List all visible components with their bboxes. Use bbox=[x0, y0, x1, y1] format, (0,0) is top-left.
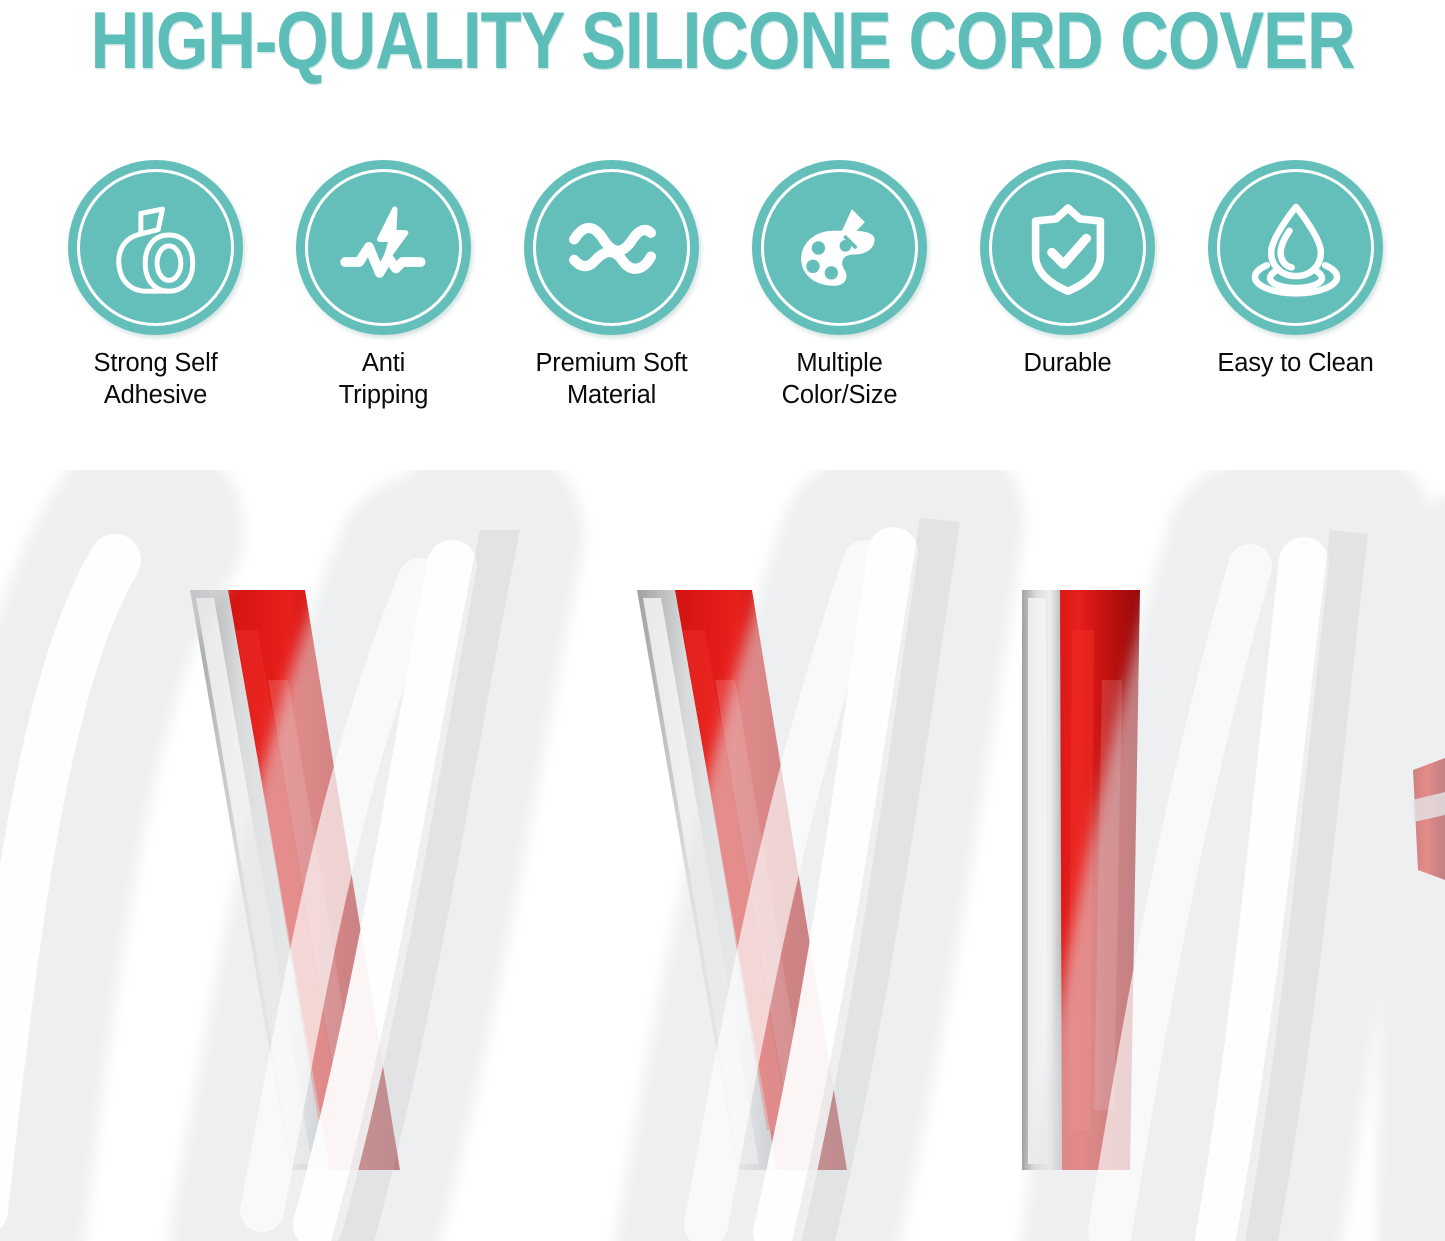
water-drop-ripple-icon bbox=[1242, 194, 1350, 302]
lightning-bolt-pulse-icon bbox=[330, 194, 438, 302]
double-wave-icon bbox=[558, 194, 666, 302]
feature-item-easy-to-clean: Easy to Clean bbox=[1203, 160, 1388, 379]
adhesive-tape-roll-icon bbox=[102, 194, 210, 302]
product-photo bbox=[0, 470, 1445, 1241]
feature-label: Anti Tripping bbox=[339, 347, 429, 411]
feature-label: Strong Self Adhesive bbox=[94, 347, 218, 411]
feature-badge bbox=[980, 160, 1155, 335]
feature-badge bbox=[1208, 160, 1383, 335]
feature-item-premium-soft-material: Premium Soft Material bbox=[519, 160, 704, 411]
feature-badge bbox=[524, 160, 699, 335]
feature-strip: Strong Self Adhesive Anti Tripping Premi… bbox=[63, 160, 1388, 415]
feature-badge bbox=[68, 160, 243, 335]
feature-item-anti-tripping: Anti Tripping bbox=[291, 160, 476, 411]
feature-badge bbox=[752, 160, 927, 335]
feature-item-durable: Durable bbox=[975, 160, 1160, 379]
feature-item-strong-self-adhesive: Strong Self Adhesive bbox=[63, 160, 248, 411]
feature-label: Durable bbox=[1024, 347, 1112, 379]
feature-label: Multiple Color/Size bbox=[782, 347, 898, 411]
feature-item-multiple-color-size: Multiple Color/Size bbox=[747, 160, 932, 411]
feature-label: Premium Soft Material bbox=[535, 347, 687, 411]
cord-cover-spiral-illustration bbox=[0, 470, 1445, 1241]
banner-title: HIGH-QUALITY SILICONE CORD COVER bbox=[0, 0, 1445, 80]
page-title: HIGH-QUALITY SILICONE CORD COVER bbox=[91, 0, 1355, 80]
feature-label: Easy to Clean bbox=[1217, 347, 1373, 379]
feature-badge bbox=[296, 160, 471, 335]
shield-check-icon bbox=[1014, 194, 1122, 302]
paint-palette-brush-icon bbox=[786, 194, 894, 302]
